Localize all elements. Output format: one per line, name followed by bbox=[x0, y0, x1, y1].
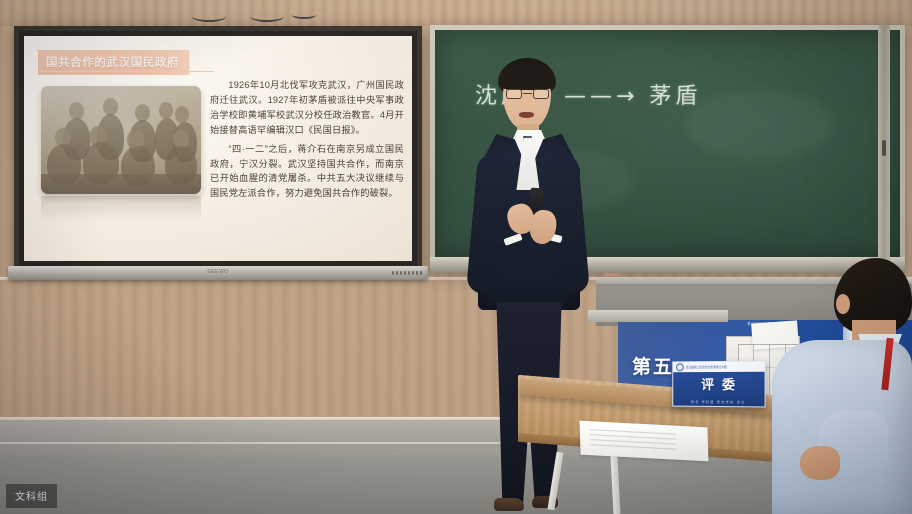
observer-figure bbox=[766, 258, 912, 514]
slide-title-underline bbox=[38, 71, 214, 72]
judge-card-header: 第五届浙江省历史优质课评比大赛 bbox=[673, 362, 764, 373]
judge-card-subtext: 姓名 学科组 所在学校 评分 bbox=[673, 400, 764, 405]
observer-hand bbox=[800, 446, 840, 480]
seal-icon bbox=[676, 363, 684, 371]
chalkboard-slide-handle[interactable] bbox=[882, 140, 886, 156]
back-desk bbox=[588, 310, 728, 322]
teacher-left-shoe bbox=[494, 498, 524, 511]
bezel-curve-right bbox=[292, 11, 316, 19]
slide-paragraph-2: “四·一二”之后，蒋介石在南京另成立国民政府，宁汉分裂。武汉坚持国共合作，而南京… bbox=[210, 142, 404, 202]
photo-table bbox=[41, 174, 201, 194]
slide-paragraph-1: 1926年10月北伐军攻克武汉，广州国民政府迁往武汉。1927年初茅盾被派往中央… bbox=[210, 78, 404, 138]
glasses-icon bbox=[506, 89, 549, 99]
judge-name-card: 第五届浙江省历史优质课评比大赛 评委 姓名 学科组 所在学校 评分 bbox=[672, 361, 765, 408]
bezel-port-indicators[interactable] bbox=[392, 271, 422, 275]
judge-card-header-text: 第五届浙江省历史优质课评比大赛 bbox=[686, 365, 727, 369]
slide-body-text: 1926年10月北伐军攻克武汉，广州国民政府迁往武汉。1927年初茅盾被派往中央… bbox=[210, 78, 404, 205]
classroom-scene: 第五 第五届浙江省历史教学评比大赛 ♟♟♟ 国共合作的武汉国民政府 bbox=[0, 0, 912, 514]
seewo-brand-logo: SEEWO bbox=[207, 269, 229, 275]
video-watermark: 文科组 bbox=[6, 484, 57, 508]
slide-title: 国共合作的武汉国民政府 bbox=[46, 57, 179, 69]
teacher-mouth bbox=[519, 112, 534, 118]
bezel-curve-mid bbox=[250, 11, 284, 22]
smart-whiteboard[interactable]: 国共合作的武汉国民政府 bbox=[14, 26, 422, 271]
historical-group-photo bbox=[41, 86, 201, 194]
evaluation-paper[interactable] bbox=[579, 421, 708, 462]
observer-ear bbox=[836, 294, 850, 314]
presentation-slide: 国共合作的武汉国民政府 bbox=[24, 36, 412, 261]
photo-reflection bbox=[41, 196, 201, 222]
banner-title: 第五 bbox=[632, 352, 674, 379]
whiteboard-bezel: SEEWO bbox=[8, 266, 428, 280]
judge-card-title: 评委 bbox=[673, 374, 764, 393]
wall-top-panel bbox=[0, 0, 912, 28]
whiteboard-display[interactable]: 国共合作的武汉国民政府 bbox=[24, 36, 412, 261]
bezel-curve-left bbox=[192, 11, 226, 22]
